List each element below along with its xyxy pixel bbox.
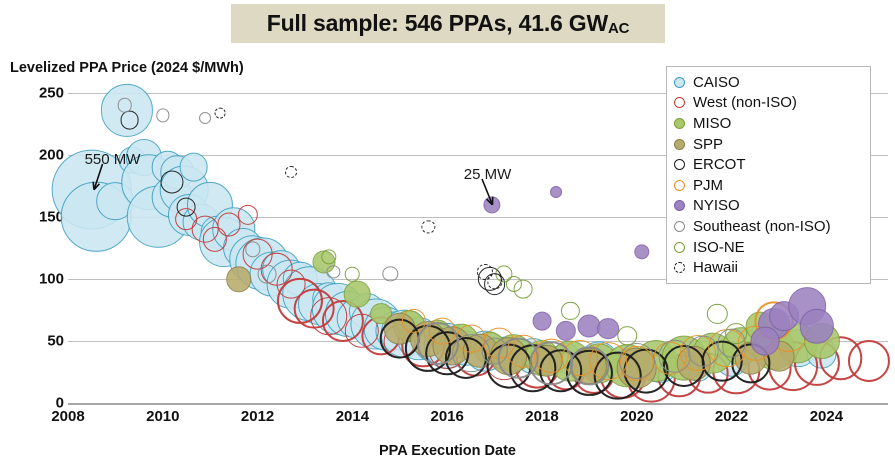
data-bubble — [200, 112, 212, 124]
legend-marker-icon — [674, 77, 685, 88]
legend-item-pjm[interactable]: PJM — [674, 175, 863, 196]
legend-item-label: West (non-ISO) — [693, 94, 797, 111]
data-bubble — [533, 312, 552, 331]
legend-item-iso-ne[interactable]: ISO-NE — [674, 237, 863, 258]
x-tick-label: 2018 — [525, 408, 558, 425]
data-bubble — [561, 302, 579, 320]
data-bubble — [344, 281, 371, 308]
legend-item-label: CAISO — [693, 74, 740, 91]
legend-item-west-non-iso[interactable]: West (non-ISO) — [674, 93, 863, 114]
legend-item-hawaii[interactable]: Hawaii — [674, 257, 863, 278]
y-tick-label: 250 — [4, 85, 64, 102]
x-tick-label: 2024 — [810, 408, 843, 425]
legend-item-label: Hawaii — [693, 259, 738, 276]
x-tick-label: 2014 — [336, 408, 369, 425]
legend-marker-icon — [674, 262, 685, 273]
data-bubble — [258, 265, 277, 284]
x-tick-label: 2016 — [431, 408, 464, 425]
data-bubble — [238, 204, 258, 224]
data-bubble — [688, 336, 719, 367]
legend-item-spp[interactable]: SPP — [674, 134, 863, 155]
legend: CAISOWest (non-ISO)MISOSPPERCOTPJMNYISOS… — [666, 66, 871, 284]
data-bubble — [550, 186, 562, 198]
data-bubble — [179, 153, 208, 182]
data-bubble — [285, 166, 297, 178]
y-tick-label: 200 — [4, 147, 64, 164]
legend-item-label: ISO-NE — [693, 239, 745, 256]
data-bubble — [514, 279, 533, 298]
y-tick-label: 50 — [4, 333, 64, 350]
data-bubble — [345, 267, 360, 282]
legend-item-label: MISO — [693, 115, 731, 132]
x-tick-label: 2020 — [620, 408, 653, 425]
legend-marker-icon — [674, 221, 685, 232]
data-bubble — [118, 98, 133, 113]
legend-marker-icon — [674, 97, 685, 108]
data-bubble — [725, 323, 747, 345]
annotation-arrow — [474, 171, 500, 213]
data-bubble — [161, 171, 184, 194]
data-bubble — [214, 107, 225, 118]
data-bubble — [750, 327, 779, 356]
legend-item-label: PJM — [693, 177, 723, 194]
data-bubble — [597, 318, 619, 340]
x-tick-label: 2010 — [146, 408, 179, 425]
data-bubble — [226, 266, 252, 292]
x-axis-title: PPA Execution Date — [0, 443, 895, 459]
legend-item-miso[interactable]: MISO — [674, 113, 863, 134]
x-tick-label: 2012 — [241, 408, 274, 425]
legend-marker-icon — [674, 159, 685, 170]
chart-title-subscript: AC — [608, 20, 629, 37]
data-bubble — [120, 111, 139, 130]
legend-marker-icon — [674, 242, 685, 253]
gridline-0 — [68, 403, 888, 405]
legend-item-southeast-non-iso[interactable]: Southeast (non-ISO) — [674, 216, 863, 237]
legend-marker-icon — [674, 200, 685, 211]
chart-title-main: Full sample: 546 PPAs, 41.6 GW — [267, 10, 608, 37]
legend-marker-icon — [674, 139, 685, 150]
data-bubble — [327, 265, 340, 278]
x-tick-label: 2008 — [51, 408, 84, 425]
legend-item-label: Southeast (non-ISO) — [693, 218, 831, 235]
legend-item-caiso[interactable]: CAISO — [674, 72, 863, 93]
data-bubble — [658, 340, 691, 373]
x-tick-label: 2022 — [715, 408, 748, 425]
annotation-arrow — [86, 156, 111, 198]
legend-marker-icon — [674, 180, 685, 191]
chart-title: Full sample: 546 PPAs, 41.6 GWAC — [231, 4, 665, 43]
legend-item-label: ERCOT — [693, 156, 746, 173]
y-tick-label: 150 — [4, 209, 64, 226]
y-axis-title: Levelized PPA Price (2024 $/MWh) — [10, 60, 244, 76]
data-bubble — [707, 304, 727, 324]
legend-item-label: NYISO — [693, 197, 740, 214]
x-axis-tick-labels: 200820102012201420162018202020222024 — [68, 408, 888, 432]
data-bubble — [177, 198, 196, 217]
legend-item-label: SPP — [693, 136, 723, 153]
chart-root: Full sample: 546 PPAs, 41.6 GWAC Leveliz… — [0, 0, 895, 472]
legend-item-ercot[interactable]: ERCOT — [674, 154, 863, 175]
data-bubble — [848, 340, 890, 382]
data-bubble — [530, 342, 574, 386]
y-tick-label: 100 — [4, 271, 64, 288]
data-bubble — [634, 244, 649, 259]
data-bubble — [156, 109, 169, 122]
legend-marker-icon — [674, 118, 685, 129]
legend-item-nyiso[interactable]: NYISO — [674, 196, 863, 217]
y-axis-tick-labels: 050100150200250 — [0, 93, 64, 403]
data-bubble — [422, 220, 435, 233]
data-bubble — [556, 321, 576, 341]
data-bubble — [619, 343, 655, 379]
